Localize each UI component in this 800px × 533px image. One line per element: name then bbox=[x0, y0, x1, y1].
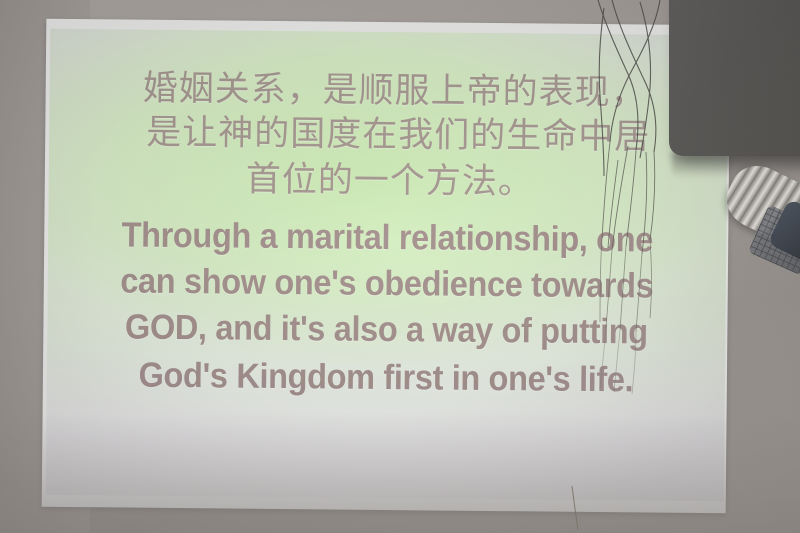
dark-wall-panel bbox=[669, 0, 800, 156]
wall-shadow-bottom bbox=[0, 413, 800, 533]
photo-scene: 婚姻关系，是顺服上帝的表现， 是让神的国度在我们的生命中居 首位的一个方法。 T… bbox=[0, 0, 800, 533]
slide-english-line-3: GOD, and it's also a way of putting bbox=[71, 307, 702, 353]
slide-english-line-2: can show one's obedience towards bbox=[71, 261, 702, 307]
slide-english-line-1: Through a marital relationship, one bbox=[72, 215, 703, 261]
slide-english-line-4: God's Kingdom first in one's life. bbox=[70, 355, 701, 401]
slide-chinese-line-3: 首位的一个方法。 bbox=[51, 149, 729, 207]
